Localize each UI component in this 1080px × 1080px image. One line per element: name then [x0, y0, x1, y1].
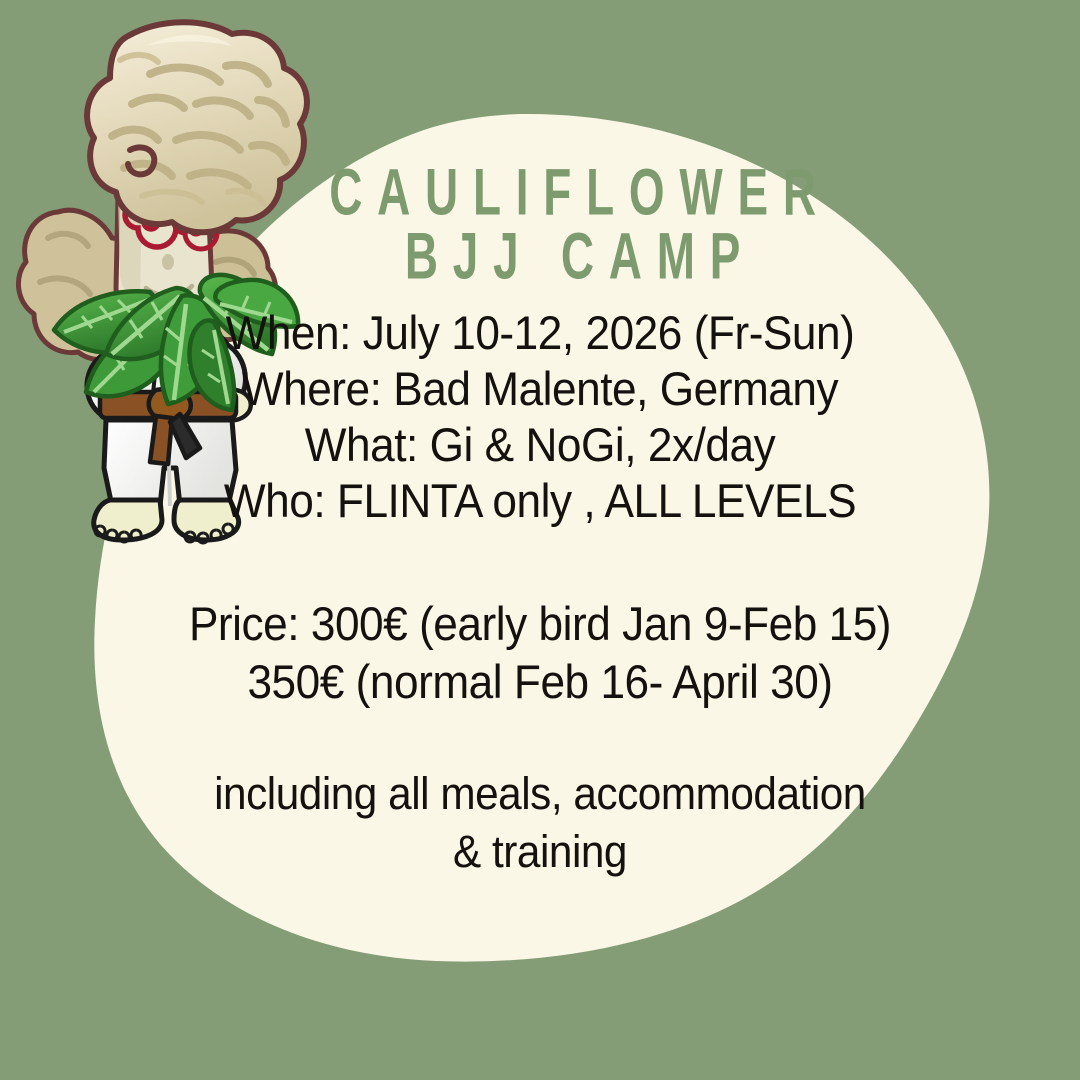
nose	[162, 254, 174, 270]
mascot-cauliflower-fighter	[0, 0, 330, 560]
mascot-feet	[94, 500, 239, 543]
cauliflower-head	[87, 22, 307, 232]
poster-canvas: CAULIFLOWER BJJ CAMP When: July 10-12, 2…	[0, 0, 1080, 1080]
